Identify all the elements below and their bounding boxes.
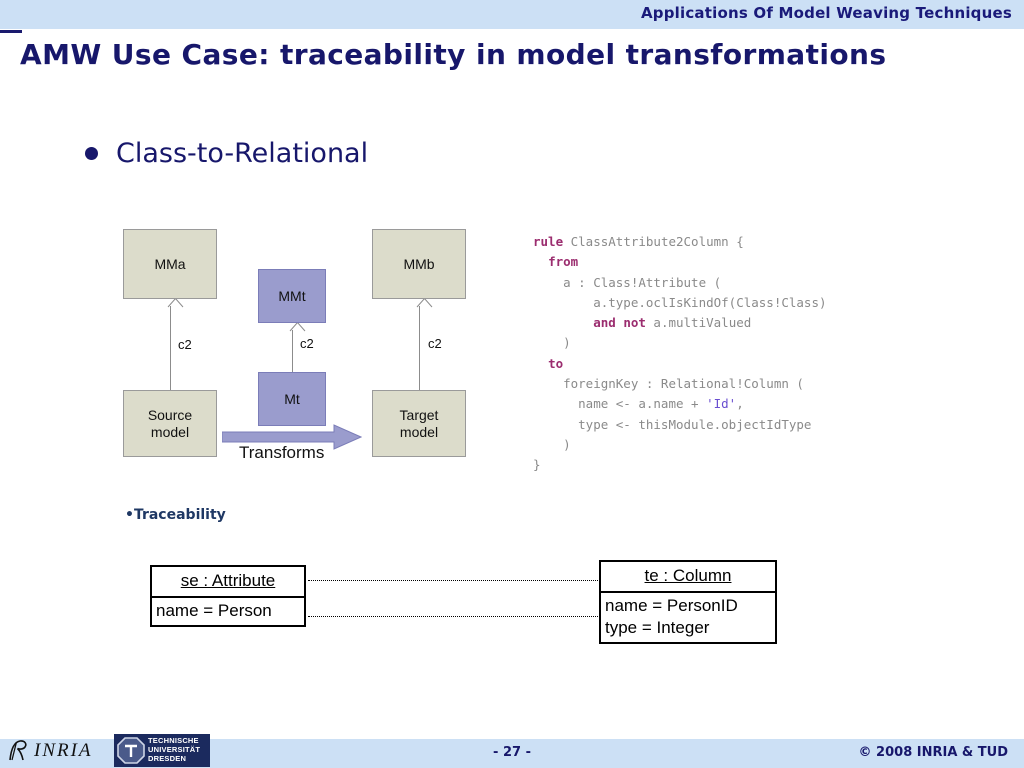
bullet-traceability: •Traceability (125, 507, 226, 523)
box-source-model: Source model (123, 390, 217, 457)
code-line-5: ) (533, 333, 827, 353)
trace-link-header (308, 580, 598, 581)
code-line-4: and not a.multiValued (533, 313, 827, 333)
code-line-1: from (533, 252, 827, 272)
copyright-notice: © 2008 INRIA & TUD (859, 745, 1008, 760)
box-target-model: Target model (372, 390, 466, 457)
uml-object-te-column: te : Column name = PersonID type = Integ… (599, 560, 777, 644)
uml-left-attribute-0: name = Person (156, 600, 300, 622)
box-mmb: MMb (372, 229, 466, 299)
c2-label-middle: c2 (300, 336, 314, 351)
c2-line-right (419, 306, 420, 390)
uml-object-se-attribute: se : Attribute name = Person (150, 565, 306, 627)
uml-left-header-text: se : Attribute (181, 571, 276, 590)
code-line-2: a : Class!Attribute ( (533, 273, 827, 293)
code-line-8: name <- a.name + 'Id', (533, 394, 827, 414)
transformation-diagram: c2 c2 c2 MMa MMb MMt Mt Source model Tar… (0, 0, 520, 500)
uml-left-header: se : Attribute (152, 567, 304, 598)
c2-line-left (170, 306, 171, 390)
uml-right-header-text: te : Column (645, 566, 732, 585)
box-mmt: MMt (258, 269, 326, 323)
code-line-10: ) (533, 435, 827, 455)
uml-right-attribute-1: type = Integer (605, 617, 771, 639)
atl-rule-code: rule ClassAttribute2Column { from a : Cl… (533, 232, 827, 476)
code-line-0: rule ClassAttribute2Column { (533, 232, 827, 252)
transforms-label: Transforms (239, 443, 324, 463)
code-line-7: foreignKey : Relational!Column ( (533, 374, 827, 394)
presentation-title: Applications Of Model Weaving Techniques (641, 4, 1012, 22)
box-mma: MMa (123, 229, 217, 299)
uml-right-body: name = PersonID type = Integer (601, 593, 775, 642)
uml-left-body: name = Person (152, 598, 304, 625)
uml-right-attribute-0: name = PersonID (605, 595, 771, 617)
uml-right-header: te : Column (601, 562, 775, 593)
box-mt: Mt (258, 372, 326, 426)
code-line-11: } (533, 455, 827, 475)
code-line-6: to (533, 354, 827, 374)
code-line-3: a.type.oclIsKindOf(Class!Class) (533, 293, 827, 313)
c2-line-middle (292, 330, 293, 372)
trace-link-attribute (308, 616, 598, 617)
c2-label-left: c2 (178, 337, 192, 352)
code-line-9: type <- thisModule.objectIdType (533, 415, 827, 435)
c2-label-right: c2 (428, 336, 442, 351)
